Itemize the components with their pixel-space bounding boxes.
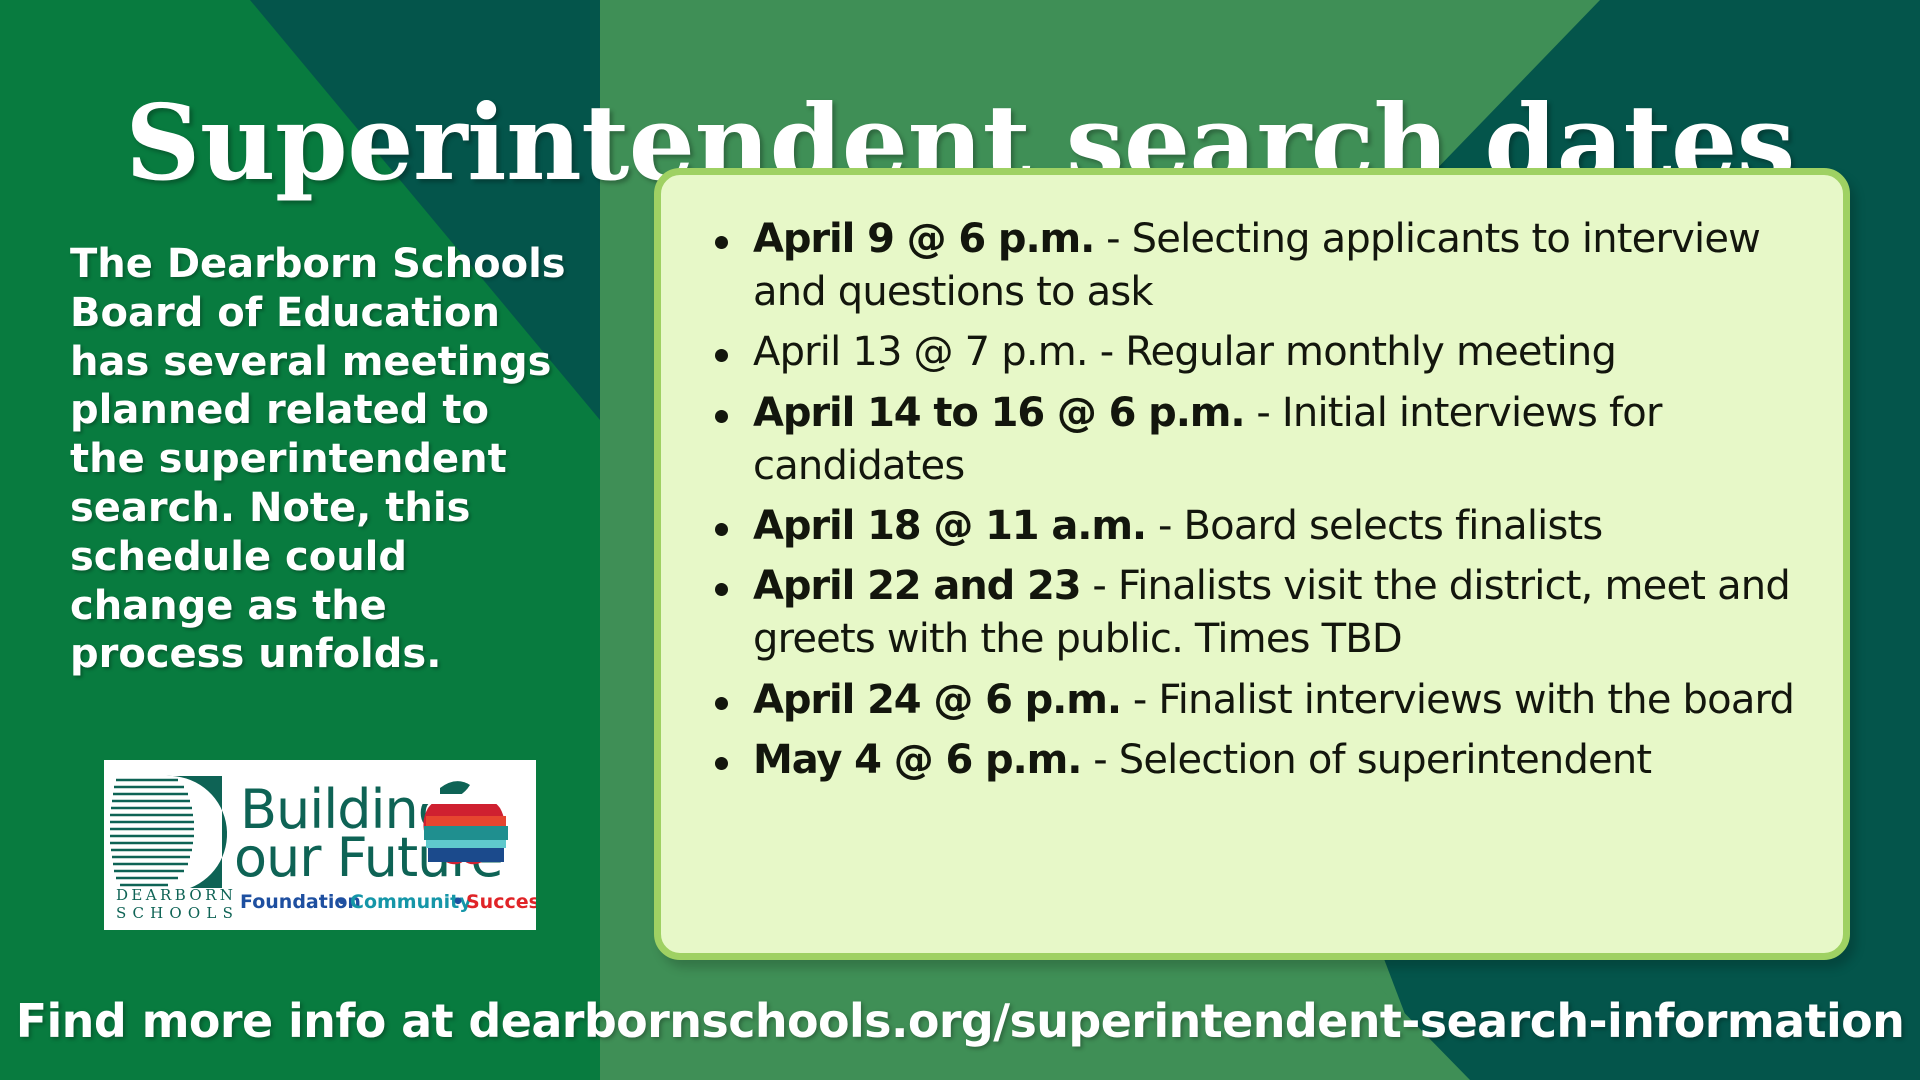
logo-tagline-success: Success bbox=[466, 891, 536, 913]
dearborn-schools-logo: DEARBORN SCHOOLS Building our Future Fo bbox=[104, 760, 536, 930]
schedule-item: April 13 @ 7 p.m. - Regular monthly meet… bbox=[707, 326, 1813, 379]
schedule-item-date: April 9 @ 6 p.m. bbox=[753, 216, 1094, 262]
schedule-item: April 22 and 23 - Finalists visit the di… bbox=[707, 560, 1813, 666]
footer-link[interactable]: Find more info at dearbornschools.org/su… bbox=[0, 994, 1920, 1048]
intro-paragraph: The Dearborn Schools Board of Education … bbox=[70, 240, 570, 679]
schedule-item-date: April 13 @ 7 p.m. bbox=[753, 329, 1088, 375]
schedule-item-detail: - Board selects finalists bbox=[1146, 503, 1602, 549]
schedule-list: April 9 @ 6 p.m. - Selecting applicants … bbox=[661, 175, 1843, 787]
schedule-card: April 9 @ 6 p.m. - Selecting applicants … bbox=[654, 168, 1850, 960]
schedule-item-date: April 24 @ 6 p.m. bbox=[753, 677, 1121, 723]
schedule-item: April 9 @ 6 p.m. - Selecting applicants … bbox=[707, 213, 1813, 319]
schedule-item-date: April 14 to 16 @ 6 p.m. bbox=[753, 390, 1244, 436]
schedule-item-detail: - Regular monthly meeting bbox=[1088, 329, 1616, 375]
schedule-item: April 14 to 16 @ 6 p.m. - Initial interv… bbox=[707, 387, 1813, 493]
logo-graphic: DEARBORN SCHOOLS Building our Future Fo bbox=[104, 760, 536, 930]
schedule-item-date: April 18 @ 11 a.m. bbox=[753, 503, 1146, 549]
schedule-item-date: May 4 @ 6 p.m. bbox=[753, 737, 1081, 783]
logo-inner: DEARBORN SCHOOLS Building our Future Fo bbox=[104, 760, 536, 930]
schedule-item-detail: - Finalist interviews with the board bbox=[1121, 677, 1794, 723]
schedule-item-detail: - Selection of superintendent bbox=[1081, 737, 1651, 783]
apple-icon bbox=[420, 781, 514, 882]
logo-org-line1: DEARBORN bbox=[116, 886, 236, 904]
logo-tagline-sep2: • bbox=[452, 891, 464, 913]
schedule-item: April 18 @ 11 a.m. - Board selects final… bbox=[707, 500, 1813, 553]
schedule-item: May 4 @ 6 p.m. - Selection of superinten… bbox=[707, 734, 1813, 787]
logo-org-line2: SCHOOLS bbox=[116, 904, 239, 922]
logo-tagline-sep1: • bbox=[336, 891, 348, 913]
logo-d-mark bbox=[110, 776, 227, 888]
schedule-item-date: April 22 and 23 bbox=[753, 563, 1080, 609]
schedule-item: April 24 @ 6 p.m. - Finalist interviews … bbox=[707, 674, 1813, 727]
poster-canvas: Superintendent search dates The Dearborn… bbox=[0, 0, 1920, 1080]
